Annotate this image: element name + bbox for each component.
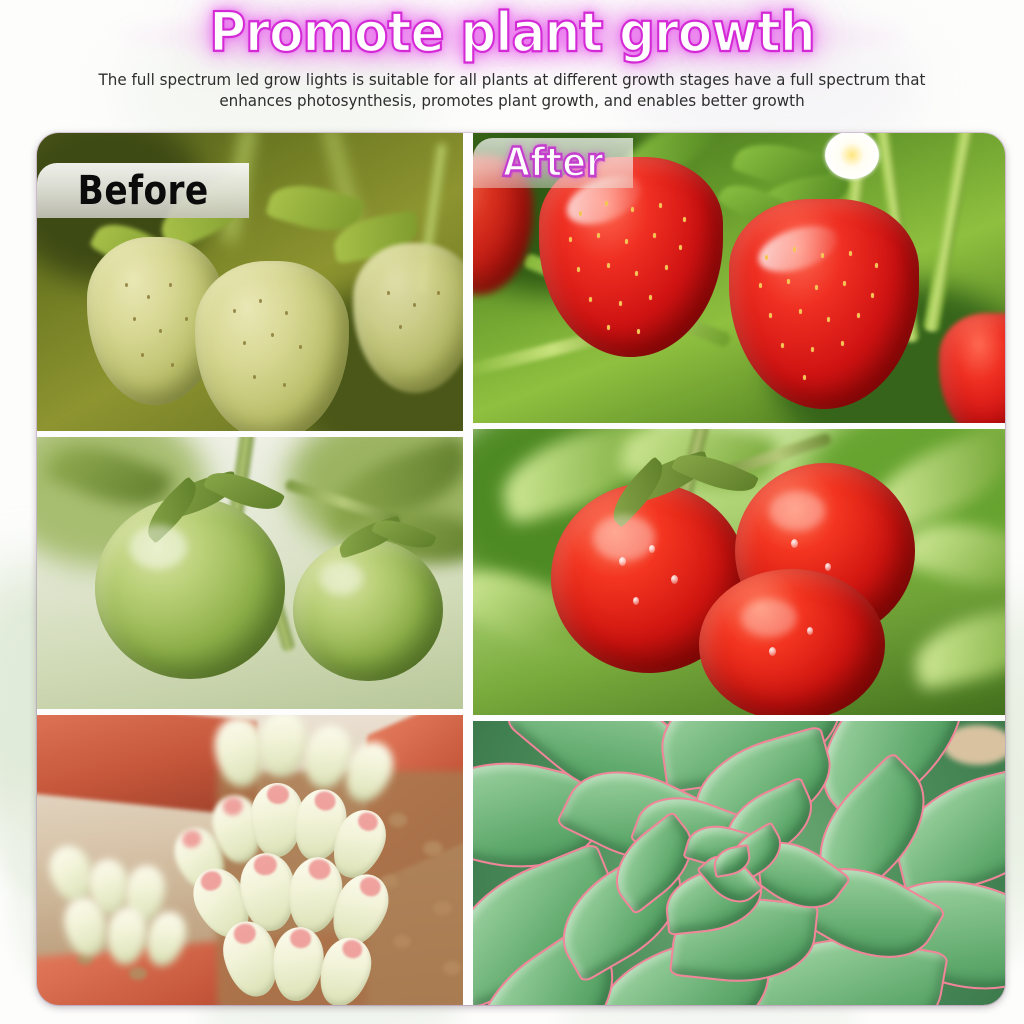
panel-after-strawberries: After (473, 133, 1005, 423)
before-column: Before (37, 133, 463, 1005)
before-badge-label: Before (77, 171, 208, 211)
before-badge: Before (37, 163, 249, 218)
page-subtitle: The full spectrum led grow lights is sui… (76, 70, 949, 112)
panel-after-succulent (473, 721, 1005, 1005)
panel-before-succulent (37, 715, 463, 1005)
column-gap (463, 133, 473, 1005)
page-title: Promote plant growth (36, 2, 988, 64)
after-badge-label: After (503, 143, 604, 183)
green-tomato-art (37, 437, 463, 709)
after-column: After (473, 133, 1005, 1005)
healthy-succulent-art (473, 721, 1005, 1005)
header: Promote plant growth The full spectrum l… (0, 0, 1024, 128)
panel-after-tomatoes (473, 429, 1005, 715)
ripe-tomato-art (473, 429, 1005, 715)
panel-before-strawberries: Before (37, 133, 463, 431)
panel-before-tomatoes (37, 437, 463, 709)
before-after-collage: Before (37, 133, 1005, 1005)
pale-succulent-art (37, 715, 463, 1005)
after-badge: After (473, 138, 633, 188)
